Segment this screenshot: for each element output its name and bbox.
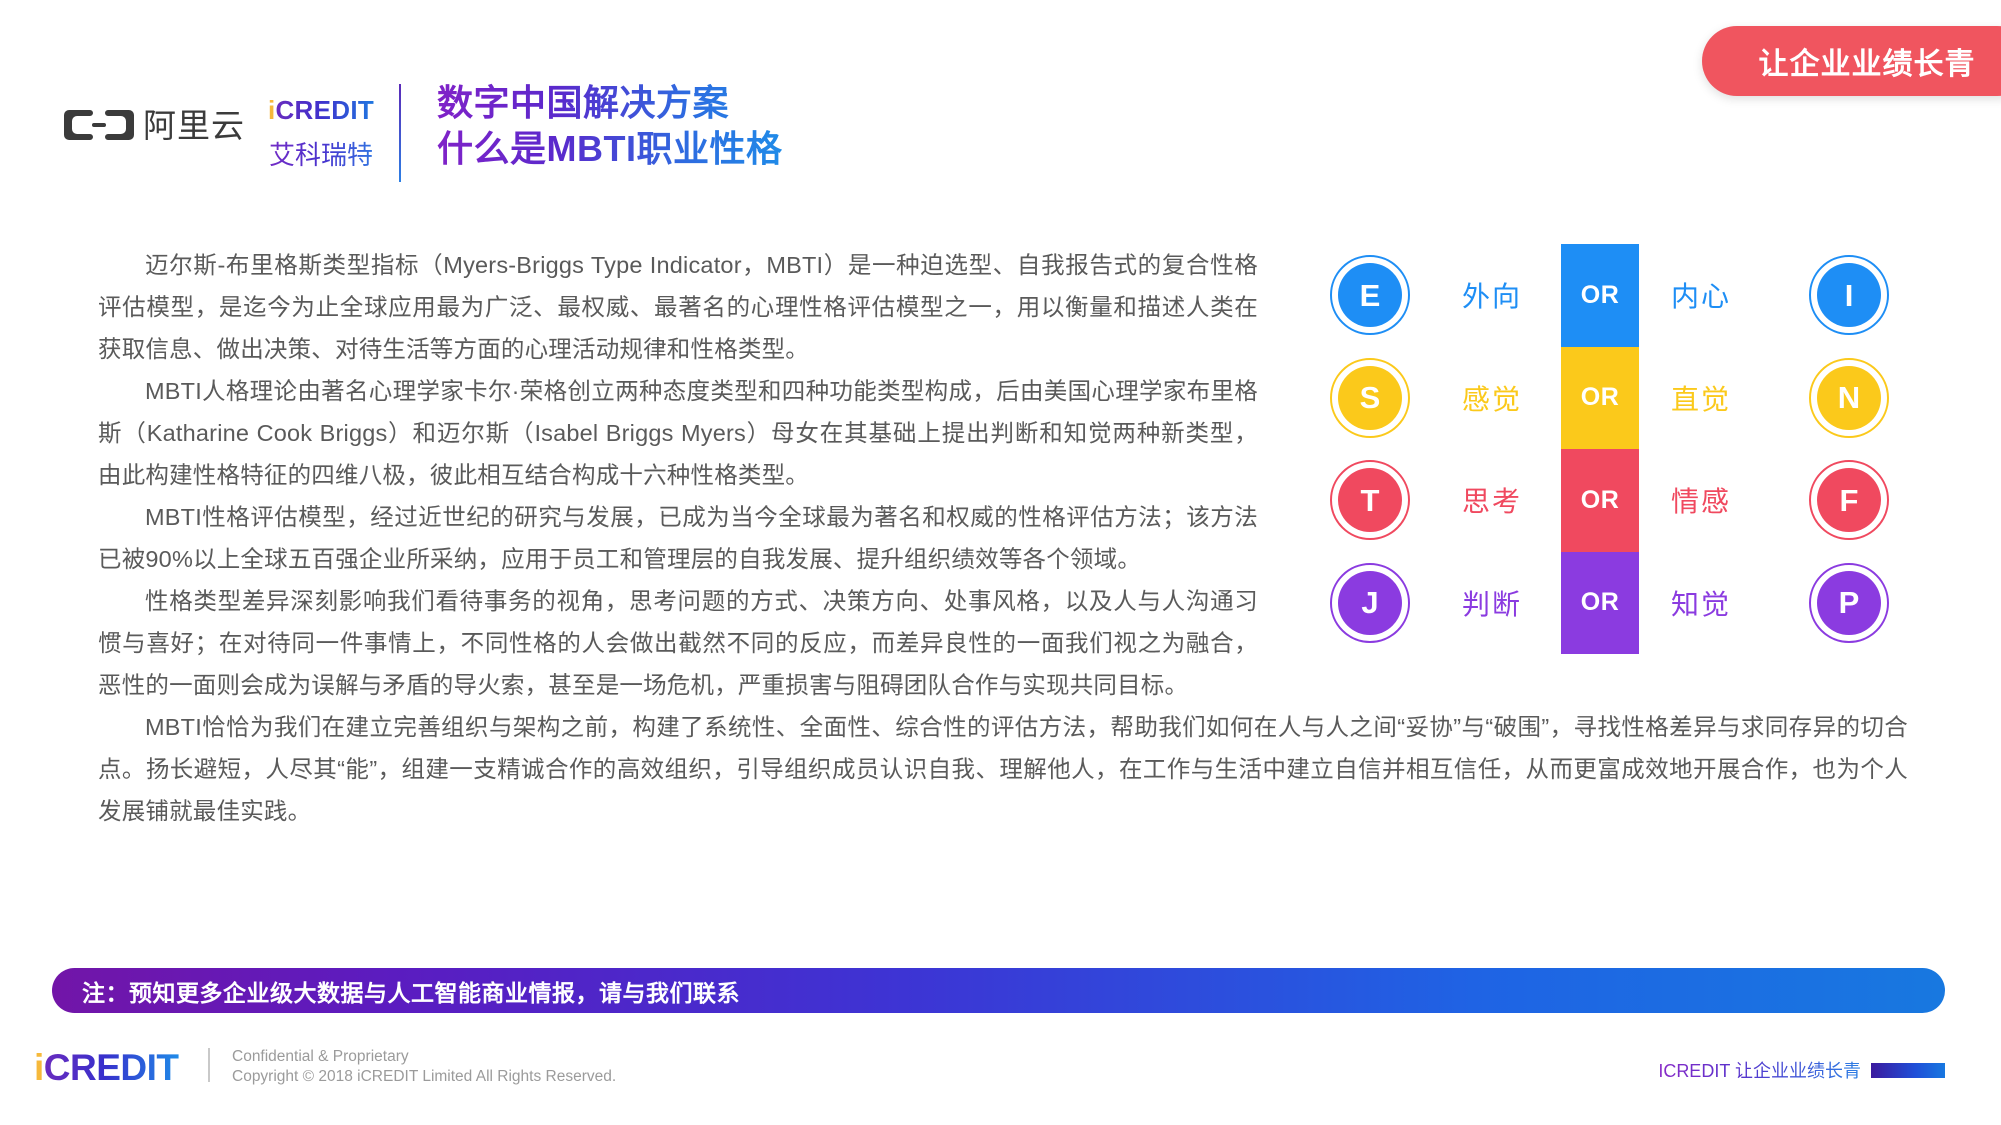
footer-accent-bar [1871, 1063, 1945, 1078]
footer-copyright-line1: Confidential & Proprietary [232, 1047, 616, 1067]
mbti-row-e-i: E 外向 内心 I [1330, 244, 1880, 347]
icredit-brand-cn: 艾科瑞特 [260, 135, 382, 172]
mbti-label-left-3: 思考 [1462, 480, 1522, 520]
icredit-brand-en: iCREDIT [260, 94, 382, 127]
mbti-row-right: 直觉 N [1639, 358, 1889, 438]
mbti-letter-f: F [1840, 485, 1859, 516]
mbti-row-t-f: T 思考 情感 F [1330, 449, 1880, 552]
mbti-label-left-4: 判断 [1462, 583, 1522, 623]
header-divider [399, 84, 401, 182]
mbti-circle-disc: T [1338, 468, 1402, 532]
mbti-letter-j: J [1361, 587, 1378, 618]
alibaba-cloud-logo-text: 阿里云 [143, 109, 245, 142]
mbti-row-left: E 外向 [1330, 255, 1561, 335]
mbti-letter-n: N [1838, 382, 1860, 413]
mbti-label-left-1: 外向 [1462, 275, 1522, 315]
paragraph-3: MBTI性格评估模型，经过近世纪的研究与发展，已成为当今全球最为著名和权威的性格… [98, 496, 1258, 580]
footer-tagline-text: ICREDIT 让企业业绩长青 [1658, 1057, 1861, 1083]
mbti-label-right-4: 知觉 [1671, 583, 1767, 623]
mbti-letter-p: P [1839, 587, 1860, 618]
mbti-circle-disc: S [1338, 366, 1402, 430]
mbti-circle-e: E [1330, 255, 1410, 335]
slide-footer: iCREDIT Confidential & Proprietary Copyr… [0, 1040, 2001, 1125]
page-title-line1: 数字中国解决方案 [437, 80, 782, 126]
mbti-row-left: S 感觉 [1330, 358, 1561, 438]
slide-header: 阿里云 iCREDIT 艾科瑞特 数字中国解决方案 什么是MBTI职业性格 [0, 0, 2001, 190]
mbti-row-left: T 思考 [1330, 460, 1561, 540]
mbti-circle-t: T [1330, 460, 1410, 540]
mbti-row-right: 知觉 P [1639, 563, 1889, 643]
mbti-circle-disc: E [1338, 263, 1402, 327]
mbti-circle-disc: N [1817, 366, 1881, 430]
mbti-row-left: J 判断 [1330, 563, 1561, 643]
paragraph-1: 迈尔斯-布里格斯类型指标（Myers-Briggs Type Indicator… [98, 244, 1258, 370]
mbti-circle-n: N [1809, 358, 1889, 438]
mbti-circle-i: I [1809, 255, 1889, 335]
mbti-letter-e: E [1360, 280, 1381, 311]
mbti-circle-disc: F [1817, 468, 1881, 532]
mbti-dichotomy-diagram: OR OR OR OR E 外向 内心 I [1330, 244, 1880, 654]
footer-divider [208, 1048, 210, 1082]
mbti-label-right-1: 内心 [1671, 275, 1767, 315]
page-title-line2: 什么是MBTI职业性格 [437, 126, 782, 172]
footer-copyright-line2: Copyright © 2018 iCREDIT Limited All Rig… [232, 1067, 616, 1087]
mbti-letter-s: S [1360, 382, 1381, 413]
mbti-label-right-2: 直觉 [1671, 378, 1767, 418]
mbti-label-right-3: 情感 [1671, 480, 1767, 520]
footer-logo-i: i [34, 1047, 44, 1088]
mbti-circle-f: F [1809, 460, 1889, 540]
paragraph-4: 性格类型差异深刻影响我们看待事务的视角，思考问题的方式、决策方向、处事风格，以及… [98, 580, 1258, 706]
paragraph-2: MBTI人格理论由著名心理学家卡尔·荣格创立两种态度类型和四种功能类型构成，后由… [98, 370, 1258, 496]
mbti-circle-p: P [1809, 563, 1889, 643]
mbti-letter-i: I [1845, 280, 1854, 311]
slide-root: 让企业业绩长青 阿里云 iCREDIT 艾科瑞特 数字中国解决方案 什么是MBT… [0, 0, 2001, 1125]
mbti-row-right: 情感 F [1639, 460, 1889, 540]
mbti-row-s-n: S 感觉 直觉 N [1330, 347, 1880, 450]
footer-tagline: ICREDIT 让企业业绩长青 [1658, 1057, 1945, 1083]
paragraph-5: MBTI恰恰为我们在建立完善组织与架构之前，构建了系统性、全面性、综合性的评估方… [98, 706, 1908, 832]
mbti-label-left-2: 感觉 [1462, 378, 1522, 418]
page-title: 数字中国解决方案 什么是MBTI职业性格 [437, 80, 782, 171]
contact-banner: 注：预知更多企业级大数据与人工智能商业情报，请与我们联系 [52, 968, 1945, 1013]
mbti-letter-t: T [1361, 485, 1380, 516]
mbti-row-j-p: J 判断 知觉 P [1330, 552, 1880, 655]
mbti-circle-j: J [1330, 563, 1410, 643]
icredit-brand-block: iCREDIT 艾科瑞特 [260, 94, 382, 172]
footer-copyright: Confidential & Proprietary Copyright © 2… [232, 1047, 616, 1087]
icredit-brand-en-rest: CREDIT [275, 95, 374, 125]
contact-banner-text: 注：预知更多企业级大数据与人工智能商业情报，请与我们联系 [82, 974, 740, 1008]
footer-icredit-logo: iCREDIT [34, 1047, 179, 1089]
mbti-circle-disc: P [1817, 571, 1881, 635]
mbti-circle-disc: I [1817, 263, 1881, 327]
footer-logo-rest: CREDIT [44, 1047, 179, 1088]
alibaba-cloud-mark-icon [64, 108, 134, 142]
mbti-row-right: 内心 I [1639, 255, 1889, 335]
mbti-circle-disc: J [1338, 571, 1402, 635]
alibaba-cloud-logo: 阿里云 [64, 108, 245, 142]
mbti-circle-s: S [1330, 358, 1410, 438]
